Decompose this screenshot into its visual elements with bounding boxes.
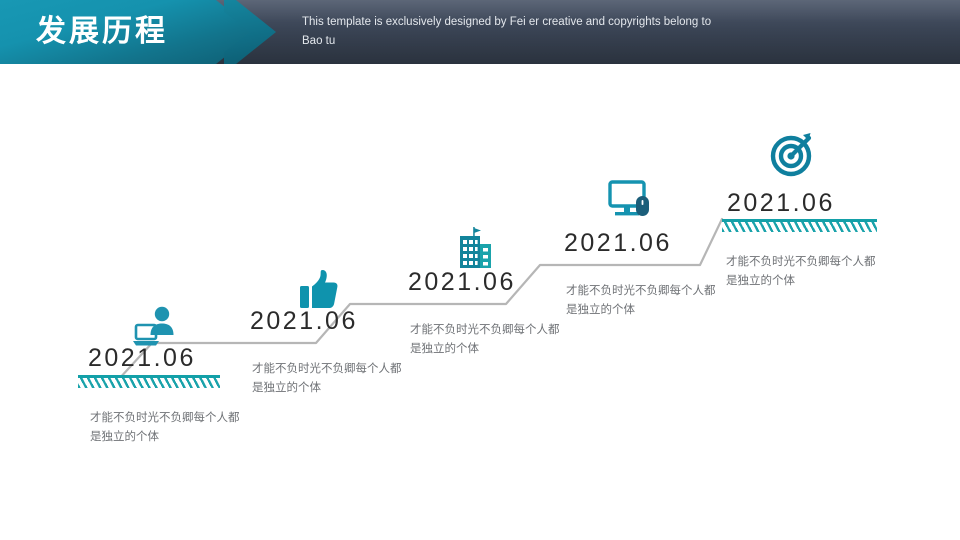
- step-accent-bar: [722, 219, 877, 232]
- page-title: 发展历程: [36, 0, 168, 64]
- step-description: 才能不负时光不负卿每个人都是独立的个体: [252, 360, 402, 398]
- step-date: 2021.06: [250, 307, 358, 336]
- step-date: 2021.06: [564, 229, 672, 258]
- target-arrow-icon: [765, 126, 821, 182]
- step-description: 才能不负时光不负卿每个人都是独立的个体: [410, 321, 560, 359]
- step-date: 2021.06: [727, 189, 835, 218]
- page-header: 发展历程 This template is exclusively design…: [0, 0, 960, 64]
- accent-bar-hatch: [78, 378, 220, 388]
- step-accent-bar: [78, 375, 220, 388]
- step-description: 才能不负时光不负卿每个人都是独立的个体: [566, 282, 716, 320]
- monitor-mouse-icon: [602, 170, 658, 226]
- header-copyright-note: This template is exclusively designed by…: [302, 13, 722, 51]
- step-description: 才能不负时光不负卿每个人都是独立的个体: [726, 253, 876, 291]
- step-date: 2021.06: [88, 344, 196, 373]
- accent-bar-hatch: [722, 222, 877, 232]
- step-description: 才能不负时光不负卿每个人都是独立的个体: [90, 409, 240, 447]
- timeline-stage: 2021.06 才能不负时光不负卿每个人都是独立的个体 2021.06 才能不负…: [0, 64, 960, 540]
- step-date: 2021.06: [408, 268, 516, 297]
